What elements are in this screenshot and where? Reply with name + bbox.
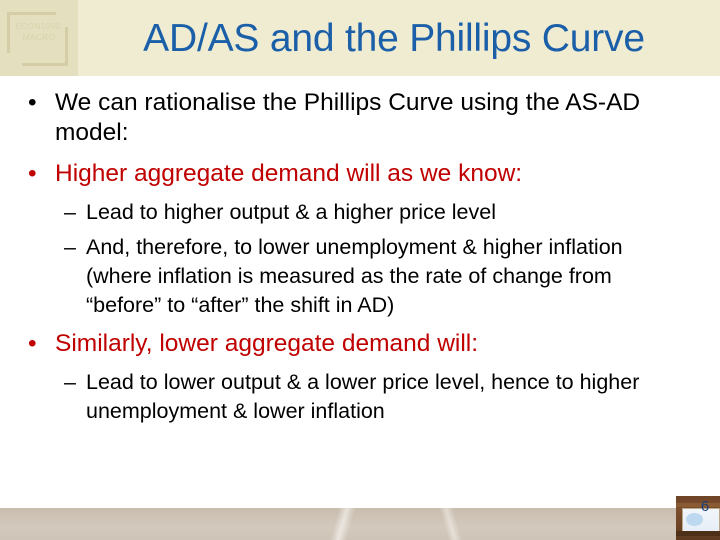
sub-bullet-text: And, therefore, to lower unemployment & … [86,235,623,317]
slide-header: ECON1050: MACRO AD/AS and the Phillips C… [0,0,720,76]
page-number: 6 [698,498,712,516]
page-title: AD/AS and the Phillips Curve [84,13,704,65]
sub-bullet-item: – And, therefore, to lower unemployment … [0,233,720,320]
slide-body: • We can rationalise the Phillips Curve … [0,76,720,508]
logo-text: ECON1050: MACRO [6,21,72,43]
bullet-item: • Higher aggregate demand will as we kno… [0,159,720,189]
dash-marker: – [64,198,76,227]
bullet-item: • Similarly, lower aggregate demand will… [0,329,720,359]
sub-bullet-text: Lead to lower output & a lower price lev… [86,370,639,423]
logo-text-line1: ECON1050: [15,21,63,31]
bullet-text: We can rationalise the Phillips Curve us… [55,89,640,146]
spacer [0,320,720,329]
bullet-marker: • [28,159,37,189]
spacer [0,359,720,368]
spacer [0,148,720,159]
footer-photo-band [0,508,720,540]
spacer [0,189,720,198]
bullet-text: Higher aggregate demand will as we know: [55,160,522,187]
logo-text-line2: MACRO [6,32,72,43]
bullet-text: Similarly, lower aggregate demand will: [55,330,478,357]
bookshelf-photo-thumbnail: 6 [676,496,720,540]
bullet-marker: • [28,329,37,359]
bullet-marker: • [28,88,37,118]
sub-bullet-item: – Lead to higher output & a higher price… [0,198,720,227]
course-logo: ECON1050: MACRO [0,0,78,76]
dash-marker: – [64,233,76,262]
shelf-bottom-decoration [676,531,720,536]
presentation-slide: ECON1050: MACRO AD/AS and the Phillips C… [0,0,720,540]
sub-bullet-text: Lead to higher output & a higher price l… [86,200,496,224]
sub-bullet-item: – Lead to lower output & a lower price l… [0,368,720,426]
dash-marker: – [64,368,76,397]
bullet-item: • We can rationalise the Phillips Curve … [0,88,720,148]
